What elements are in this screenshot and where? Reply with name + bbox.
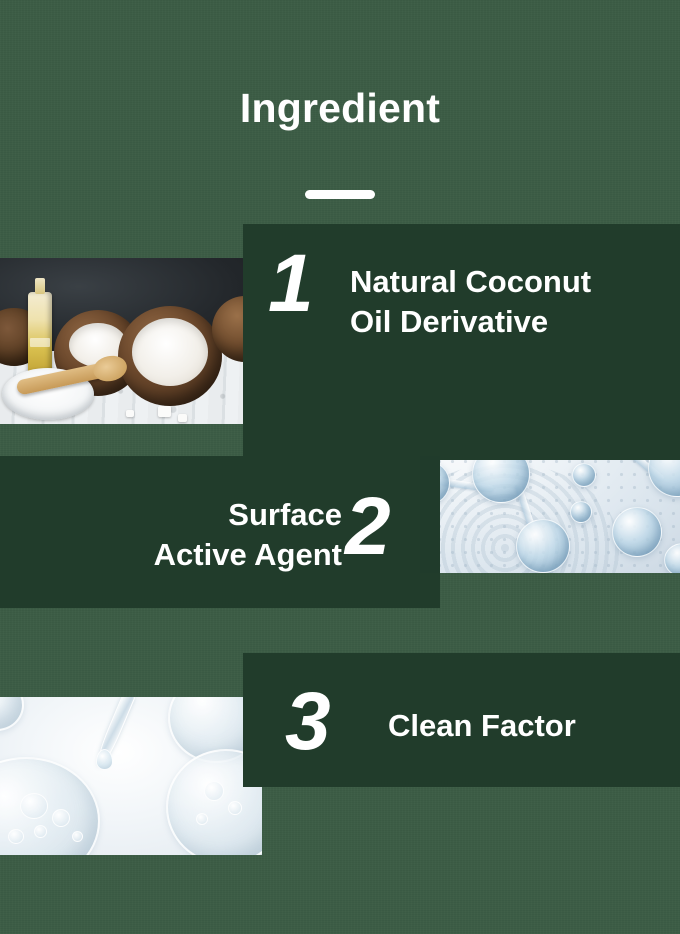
title-divider [305, 190, 375, 199]
gel-bubble [0, 697, 24, 731]
gel-bubble-small [20, 793, 48, 819]
ingredient-number-2: 2 [345, 486, 389, 568]
header: Ingredient [0, 0, 680, 215]
coconut-flake-icon [126, 410, 134, 417]
ingredient-number-1: 1 [268, 243, 312, 325]
molecule-atom [612, 507, 662, 557]
coconut-image [0, 258, 262, 424]
gel-droplet-image [0, 697, 262, 855]
gel-bubble-small [204, 781, 224, 801]
page-title: Ingredient [0, 88, 680, 129]
coconut-flake-icon [158, 406, 171, 417]
ingredient-photo-1 [0, 258, 262, 424]
gel-bubble-small [52, 809, 70, 827]
molecule-atom [572, 463, 596, 487]
ingredient-label-1: Natural Coconut Oil Derivative [350, 262, 670, 341]
droplet-icon [96, 749, 113, 770]
ingredient-number-3: 3 [285, 681, 329, 763]
molecule-atom [516, 519, 570, 573]
ingredient-label-3-line1: Clean Factor [388, 706, 668, 746]
gel-bubble-small [228, 801, 242, 815]
gel-bubble-small [8, 829, 24, 844]
gel-bubble-small [196, 813, 208, 825]
ingredient-label-2-line1: Surface [62, 495, 342, 535]
ingredient-panel-2-overlap [420, 456, 440, 573]
ingredient-label-1-line2: Oil Derivative [350, 302, 670, 342]
coconut-flake-icon [178, 414, 187, 422]
ingredient-panel-3-overlap [243, 697, 262, 787]
ingredient-photo-3 [0, 697, 262, 855]
ingredient-label-2: Surface Active Agent [62, 495, 342, 574]
molecule-atom [570, 501, 592, 523]
ingredient-label-1-line1: Natural Coconut [350, 262, 670, 302]
ingredient-label-2-line2: Active Agent [62, 535, 342, 575]
gel-bubble-small [34, 825, 47, 838]
coconut-half-center-icon [118, 306, 222, 406]
ingredient-label-3: Clean Factor [388, 706, 668, 746]
gel-bubble-small [72, 831, 83, 842]
